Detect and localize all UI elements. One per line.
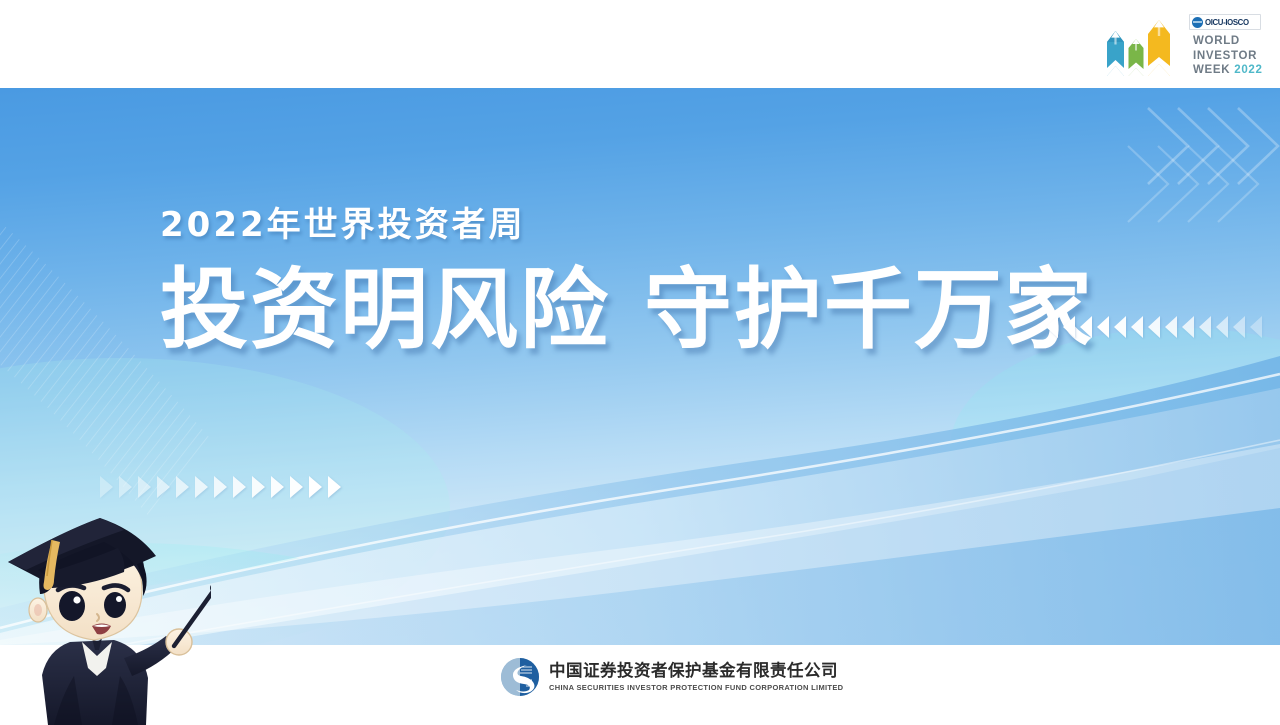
mascot-eye-left: [59, 591, 85, 621]
wiw-week-word: WEEK: [1193, 64, 1230, 76]
csipf-logo-block: 中国证券投资者保护基金有限责任公司 CHINA SECURITIES INVES…: [500, 657, 843, 697]
top-header-bar: OICU-IOSCO WORLD INVESTOR WEEK 2022: [0, 0, 1280, 88]
chevron-left-icon: [1165, 316, 1177, 338]
oicu-iosco-badge: OICU-IOSCO: [1189, 14, 1261, 30]
company-name-english: CHINA SECURITIES INVESTOR PROTECTION FUN…: [549, 683, 843, 693]
chevron-left-icon: [1182, 316, 1194, 338]
chevron-left-icon: [1233, 316, 1245, 338]
mascot-eye-right: [104, 592, 126, 618]
pencils-icon: [1097, 18, 1185, 80]
headline-part-1: 投资明风险: [160, 258, 610, 361]
globe-icon: [1192, 17, 1203, 28]
oicu-iosco-label: OICU-IOSCO: [1205, 18, 1249, 27]
chevron-left-icon: [1063, 316, 1075, 338]
headline-part-2: 守护千万家: [644, 258, 1094, 361]
wiw-line-world: WORLD: [1193, 34, 1263, 49]
chevron-right-icon: [214, 476, 227, 498]
banner-subtitle: 2022年世界投资者周: [160, 208, 1094, 242]
banner-title-block: 2022年世界投资者周 投资明风险守护千万家: [160, 208, 1094, 356]
chevron-left-icon: [1250, 316, 1262, 338]
chevron-right-icon: [290, 476, 303, 498]
csipf-text-block: 中国证券投资者保护基金有限责任公司 CHINA SECURITIES INVES…: [549, 662, 843, 693]
chevron-left-icon: [1080, 316, 1092, 338]
chevron-left-icon: [1216, 316, 1228, 338]
chevron-left-icon: [1114, 316, 1126, 338]
graduate-mascot-illustration: [0, 490, 211, 725]
wiw-line-investor: INVESTOR: [1193, 49, 1263, 64]
chevron-left-icon: [1097, 316, 1109, 338]
wiw-wordmark: WORLD INVESTOR WEEK 2022: [1193, 34, 1263, 78]
banner-headline: 投资明风险守护千万家: [160, 264, 1094, 356]
chevron-right-icon: [252, 476, 265, 498]
chevron-right-icon: [309, 476, 322, 498]
wiw-line-week: WEEK 2022: [1193, 63, 1263, 78]
chevron-right-icon: [271, 476, 284, 498]
wiw-year: 2022: [1234, 64, 1262, 76]
chevron-right-icon: [233, 476, 246, 498]
csipf-emblem-icon: [500, 657, 540, 697]
chevron-left-icon: [1148, 316, 1160, 338]
world-investor-week-logo: OICU-IOSCO WORLD INVESTOR WEEK 2022: [1097, 6, 1262, 82]
chevron-left-icon: [1131, 316, 1143, 338]
chevron-left-icon: [1199, 316, 1211, 338]
pointer-stick-icon: [174, 590, 211, 646]
company-name-chinese: 中国证券投资者保护基金有限责任公司: [549, 662, 843, 681]
chevron-left-icon: [1046, 316, 1058, 338]
chevron-right-icon: [328, 476, 341, 498]
chevron-row-left-pointing: [1046, 316, 1262, 338]
